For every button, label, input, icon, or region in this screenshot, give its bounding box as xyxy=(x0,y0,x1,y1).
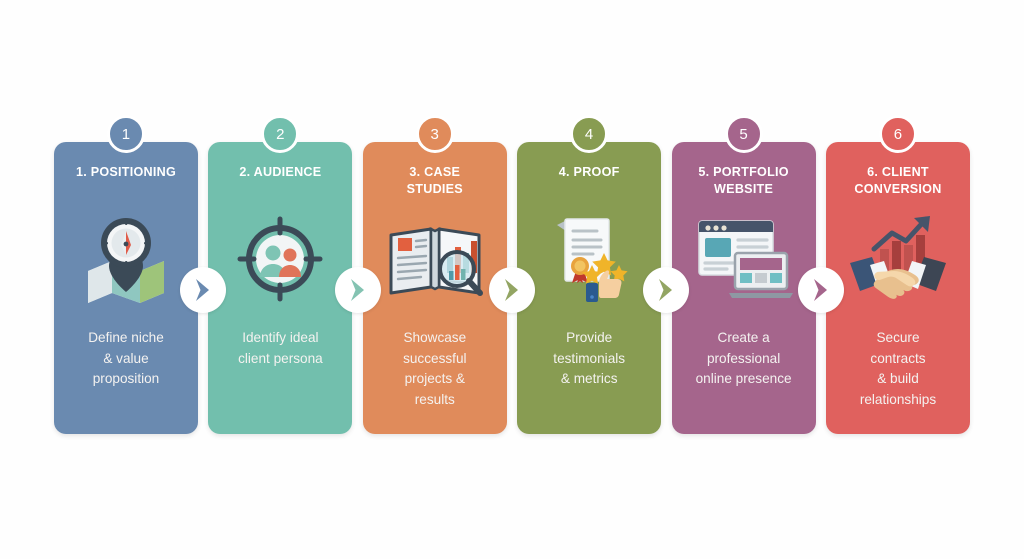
step-description: Define niche & value proposition xyxy=(62,328,190,390)
step-card-1[interactable]: 11. POSITIONING Define niche & value pro… xyxy=(54,142,198,434)
step-title: 4. PROOF xyxy=(525,164,653,181)
step-card-6[interactable]: 66. CLIENT CONVERSION Secure contracts &… xyxy=(826,142,970,434)
step-title: 5. PORTFOLIO WEBSITE xyxy=(680,164,808,197)
target-audience-icon xyxy=(208,204,352,314)
step-card-3[interactable]: 33. CASE STUDIES Showcase successful pro… xyxy=(363,142,507,434)
step-description: Showcase successful projects & results xyxy=(371,328,499,411)
chevron-right-icon xyxy=(335,267,381,313)
chevron-right-icon xyxy=(180,267,226,313)
website-laptop-icon xyxy=(672,204,816,314)
step-number-badge: 6 xyxy=(879,115,917,153)
step-number-badge: 5 xyxy=(725,115,763,153)
handshake-growth-icon xyxy=(826,204,970,314)
certificate-stars-icon xyxy=(517,204,661,314)
step-description: Secure contracts & build relationships xyxy=(834,328,962,411)
step-card-2[interactable]: 22. AUDIENCE Identify ideal client perso… xyxy=(208,142,352,434)
step-number-badge: 3 xyxy=(416,115,454,153)
compass-map-icon xyxy=(54,204,198,314)
step-description: Provide testimonials & metrics xyxy=(525,328,653,390)
chevron-right-icon xyxy=(489,267,535,313)
chevron-right-icon xyxy=(798,267,844,313)
step-number-badge: 4 xyxy=(570,115,608,153)
open-book-chart-icon xyxy=(363,204,507,314)
step-number-badge: 1 xyxy=(107,115,145,153)
step-title: 1. POSITIONING xyxy=(62,164,190,181)
step-title: 2. AUDIENCE xyxy=(216,164,344,181)
step-card-4[interactable]: 44. PROOF Provide testimonials & metrics xyxy=(517,142,661,434)
step-description: Identify ideal client persona xyxy=(216,328,344,369)
process-flow: 11. POSITIONING Define niche & value pro… xyxy=(54,142,970,434)
step-card-5[interactable]: 55. PORTFOLIO WEBSITE Create a professio… xyxy=(672,142,816,434)
step-title: 6. CLIENT CONVERSION xyxy=(834,164,962,197)
step-title: 3. CASE STUDIES xyxy=(371,164,499,197)
step-number-badge: 2 xyxy=(261,115,299,153)
infographic-canvas: 11. POSITIONING Define niche & value pro… xyxy=(0,0,1024,559)
step-description: Create a professional online presence xyxy=(680,328,808,390)
